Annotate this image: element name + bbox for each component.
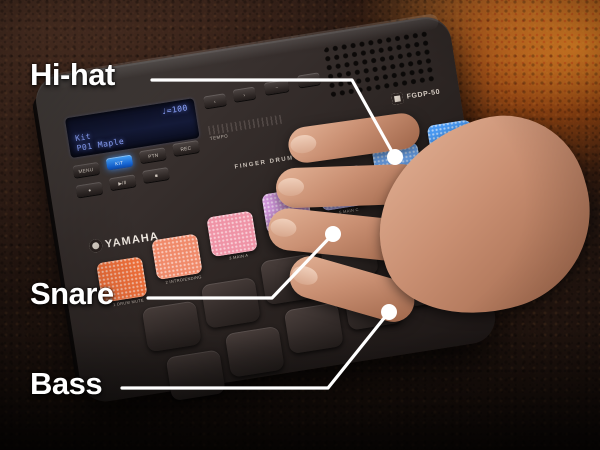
button-play-pause[interactable]: ▶/Ⅱ [109, 174, 137, 190]
button-rec[interactable]: REC [172, 140, 200, 156]
yamaha-tuning-fork-logo-icon [88, 238, 103, 253]
button-nav-right[interactable]: › [233, 87, 257, 102]
button-nav-left[interactable]: ‹ [203, 93, 227, 108]
pad-3[interactable] [206, 210, 258, 257]
screenshot-root: FGDP-50 ♩=100 Kit P01 Maple ‹ › − + TEMP… [0, 0, 600, 450]
fingernail-icon [278, 178, 305, 197]
button-stop[interactable]: ■ [142, 167, 170, 183]
pad-2[interactable] [151, 233, 203, 280]
button-plus[interactable]: + [297, 72, 321, 87]
yamaha-logo: YAMAHA [88, 229, 160, 253]
button-ptn[interactable]: PTN [139, 147, 167, 163]
label-hi-hat: Hi-hat [30, 57, 115, 93]
index-finger [286, 111, 422, 165]
fingernail-icon [290, 263, 320, 287]
fingernail-icon [270, 217, 298, 238]
dark-pad-r1c2[interactable] [201, 277, 261, 329]
button-record[interactable]: ● [76, 182, 104, 198]
fingernail-icon [289, 133, 317, 154]
tempo-slider[interactable] [208, 115, 282, 135]
label-bass: Bass [30, 366, 102, 402]
button-menu[interactable]: MENU [72, 162, 100, 178]
label-snare: Snare [30, 276, 114, 312]
button-kit[interactable]: KIT [106, 155, 134, 171]
